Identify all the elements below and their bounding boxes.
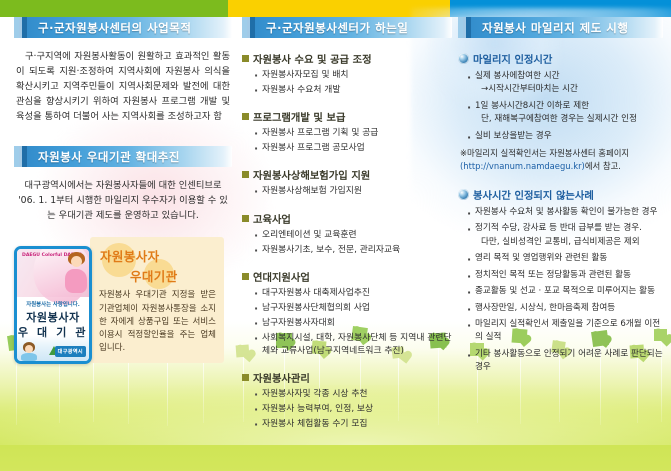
card-child-icon bbox=[21, 342, 37, 360]
square-bullet-icon bbox=[242, 55, 249, 62]
column-left: 구·군자원봉사센터의 사업목적 구·구지역에 자원봉사활동이 원활하고 효과적인… bbox=[14, 17, 232, 372]
section-header-preferred: 자원봉사 우대기관 확대추진 bbox=[14, 146, 232, 167]
preferred-body-text: 대구광역시에서는 자원봉사자들에 대한 인센티브로 '06. 1. 1부터 시행… bbox=[16, 178, 230, 223]
band-green-segment bbox=[0, 0, 228, 17]
mileage-item-list: 자원봉사 수요처 및 봉사활동 확인이 불가능한 경우정기적 수당, 강사료 등… bbox=[458, 206, 663, 374]
promo-block: 자원봉사자 우대기관 자원봉사 우대기관 지정을 받은 기관업체이 자원봉사통장… bbox=[14, 237, 232, 372]
activity-group-label: 고육사업 bbox=[253, 211, 291, 226]
mileage-group-list: 마일리지 인정시간실제 봉사에참여한 시간→시작시간부터마치는 시간1일 봉사시… bbox=[458, 51, 663, 375]
mileage-item-subtext: 단, 재해복구에참여한 경우는 실제시간 인정 bbox=[475, 113, 663, 126]
header-bars-icon bbox=[14, 17, 30, 38]
mileage-item: 정기적 수당, 강사료 등 반대 급부를 받는 경우.다만, 실비성격인 교통비… bbox=[466, 222, 663, 249]
promo-description-box: 자원봉사자 우대기관 자원봉사 우대기관 지정을 받은 기관업체이 자원봉사통장… bbox=[90, 237, 224, 363]
mileage-note-suffix: 에서 참고. bbox=[585, 161, 621, 171]
card-title-line1: 자원봉사자 bbox=[17, 309, 89, 325]
activity-item: 남구자원봉사단체협의회 사업 bbox=[253, 302, 452, 315]
mileage-item: 정치적인 목적 또는 정당활동과 관련된 활동 bbox=[466, 269, 663, 282]
activity-group-heading: 자원봉사관리 bbox=[242, 370, 452, 385]
activity-item-list: 오리엔테이션 및 교육훈련자원봉사기초, 보수, 전문, 관리자교육 bbox=[242, 229, 452, 257]
activity-item: 대구자원봉사 대축제사업추진 bbox=[253, 287, 452, 300]
activity-group-label: 자원봉사관리 bbox=[253, 370, 310, 385]
mileage-group: 마일리지 인정시간실제 봉사에참여한 시간→시작시간부터마치는 시간1일 봉사시… bbox=[458, 51, 663, 173]
activity-group-list: 자원봉사 수요 및 공급 조정자원봉사자모집 및 배치자원봉사 수요처 개발프로… bbox=[242, 51, 452, 431]
card-slogan: 자원봉사는 사랑입니다. bbox=[17, 300, 89, 308]
mileage-group-label: 봉사시간 인정되지 않는사례 bbox=[473, 187, 594, 202]
mileage-item: 마일리지 실적확인서 제출일을 기준으로 6개월 이전의 실적 bbox=[466, 318, 663, 345]
brochure-page: 구·군자원봉사센터의 사업목적 구·구지역에 자원봉사활동이 원활하고 효과적인… bbox=[0, 0, 671, 471]
mileage-item: 영리 목적 및 영업행위와 관련된 활동 bbox=[466, 252, 663, 265]
activity-item: 자원봉사 프로그램 공모사업 bbox=[253, 142, 452, 155]
mileage-item-subtext: →시작시간부터마치는 시간 bbox=[475, 83, 663, 96]
activity-group: 자원봉사 수요 및 공급 조정자원봉사자모집 및 배치자원봉사 수요처 개발 bbox=[242, 51, 452, 97]
activity-group: 프로그램개발 및 보급자원봉사 프로그램 기획 및 공급자원봉사 프로그램 공모… bbox=[242, 109, 452, 155]
card-person-body-icon bbox=[65, 269, 87, 293]
top-color-band bbox=[0, 0, 671, 17]
mileage-group-heading: 봉사시간 인정되지 않는사례 bbox=[458, 187, 663, 202]
header-bars-icon bbox=[458, 17, 474, 38]
mileage-item: 실비 보상을받는 경우 bbox=[466, 130, 663, 143]
activity-item: 자원봉사 프로그램 기획 및 공급 bbox=[253, 127, 452, 140]
square-bullet-icon bbox=[242, 215, 249, 222]
activity-group: 고육사업오리엔테이션 및 교육훈련자원봉사기초, 보수, 전문, 관리자교육 bbox=[242, 211, 452, 257]
square-bullet-icon bbox=[242, 171, 249, 178]
mileage-item: 기타 봉사활동으로 인정되기 어려운 사례로 판단되는 경우 bbox=[466, 348, 663, 375]
promo-headline-line2: 우대기관 bbox=[130, 266, 178, 285]
mileage-item-text: 종교활동 및 선교 · 포교 목적으로 미루어지는 활동 bbox=[475, 286, 655, 296]
column-right: 자원봉사 마일리지 제도 시행 마일리지 인정시간실제 봉사에참여한 시간→시작… bbox=[458, 17, 663, 375]
square-bullet-icon bbox=[242, 113, 249, 120]
three-column-body: 구·군자원봉사센터의 사업목적 구·구지역에 자원봉사활동이 원활하고 효과적인… bbox=[0, 17, 671, 471]
activity-group: 자원봉사상해보험가입 지원자원봉사상해보험 가입지원 bbox=[242, 167, 452, 198]
section-title-preferred: 자원봉사 우대기관 확대추진 bbox=[30, 149, 180, 165]
mileage-item-text: 행사장만일, 시상식, 한마음축제 참여등 bbox=[475, 303, 615, 313]
mileage-item-text: 정기적 수당, 강사료 등 반대 급부를 받는 경우. bbox=[475, 223, 642, 233]
section-header-purpose: 구·군자원봉사센터의 사업목적 bbox=[14, 17, 232, 38]
promo-headline-line1: 자원봉사자 bbox=[100, 246, 160, 265]
activity-group-label: 자원봉사 수요 및 공급 조정 bbox=[253, 51, 372, 66]
activity-group: 연대지원사업대구자원봉사 대축제사업추진남구자원봉사단체협의회 사업남구자원봉사… bbox=[242, 269, 452, 358]
activity-item-list: 대구자원봉사 대축제사업추진남구자원봉사단체협의회 사업남구자원봉사자대회사회복… bbox=[242, 287, 452, 358]
promo-description-text: 자원봉사 우대기관 지정을 받은 기관업체이 자원봉사통장을 소지한 자에게 상… bbox=[99, 289, 216, 355]
mileage-item-list: 실제 봉사에참여한 시간→시작시간부터마치는 시간1일 봉사시간8시간 이하로 … bbox=[458, 70, 663, 143]
activity-group-heading: 자원봉사상해보험가입 지원 bbox=[242, 167, 452, 182]
mileage-item: 실제 봉사에참여한 시간→시작시간부터마치는 시간 bbox=[466, 70, 663, 97]
mileage-note: ※마일리지 실적확인서는 자원봉사센터 홈페이지 (http://vnanum.… bbox=[458, 147, 663, 173]
mileage-item-subtext: 다만, 실비성격인 교통비, 급식비제공은 제외 bbox=[475, 236, 663, 249]
mileage-item-text: 정치적인 목적 또는 정당활동과 관련된 활동 bbox=[475, 270, 631, 280]
section-title-purpose: 구·군자원봉사센터의 사업목적 bbox=[30, 20, 191, 36]
mileage-group: 봉사시간 인정되지 않는사례자원봉사 수요처 및 봉사활동 확인이 불가능한 경… bbox=[458, 187, 663, 374]
activity-item-list: 자원봉사자모집 및 배치자원봉사 수요처 개발 bbox=[242, 69, 452, 97]
section-title-mileage: 자원봉사 마일리지 제도 시행 bbox=[474, 20, 628, 36]
blue-dot-icon bbox=[458, 53, 469, 64]
activity-group-label: 자원봉사상해보험가입 지원 bbox=[253, 167, 370, 182]
card-footer-gradient: 대구광역시 bbox=[17, 335, 89, 361]
blue-dot-icon bbox=[458, 189, 469, 200]
activity-item: 자원봉사기초, 보수, 전문, 관리자교육 bbox=[253, 244, 452, 257]
activity-group-label: 프로그램개발 및 보급 bbox=[253, 109, 345, 124]
square-bullet-icon bbox=[242, 273, 249, 280]
mileage-item: 행사장만일, 시상식, 한마음축제 참여등 bbox=[466, 302, 663, 315]
activity-item: 자원봉사 능력부여, 인정, 보상 bbox=[253, 403, 452, 416]
activity-item: 자원봉사자모집 및 배치 bbox=[253, 69, 452, 82]
band-blue-segment bbox=[450, 0, 671, 17]
square-bullet-icon bbox=[242, 374, 249, 381]
card-top-gradient: DAEGU Colorful DAEGU bbox=[17, 249, 89, 297]
mileage-item: 종교활동 및 선교 · 포교 목적으로 미루어지는 활동 bbox=[466, 285, 663, 298]
mileage-item: 자원봉사 수요처 및 봉사활동 확인이 불가능한 경우 bbox=[466, 206, 663, 219]
activity-group-heading: 고육사업 bbox=[242, 211, 452, 226]
activity-item: 남구자원봉사자대회 bbox=[253, 317, 452, 330]
card-issuer-badge: 대구광역시 bbox=[55, 346, 86, 357]
activity-item: 오리엔테이션 및 교육훈련 bbox=[253, 229, 452, 242]
activity-item-list: 자원봉사 프로그램 기획 및 공급자원봉사 프로그램 공모사업 bbox=[242, 127, 452, 155]
activity-item: 사회복지시설, 대학, 자원봉사단체 등 지역내 관련단체와 교류사업(남구지역… bbox=[253, 332, 452, 359]
activity-item-list: 자원봉사상해보험 가입지원 bbox=[242, 185, 452, 198]
mileage-item-text: 실제 봉사에참여한 시간 bbox=[475, 71, 560, 81]
mileage-item: 1일 봉사시간8시간 이하로 제한단, 재해복구에참여한 경우는 실제시간 인정 bbox=[466, 100, 663, 127]
mileage-item-text: 기타 봉사활동으로 인정되기 어려운 사례로 판단되는 경우 bbox=[475, 349, 663, 372]
activity-group-heading: 자원봉사 수요 및 공급 조정 bbox=[242, 51, 452, 66]
section-header-mileage: 자원봉사 마일리지 제도 시행 bbox=[458, 17, 663, 38]
header-bars-icon bbox=[242, 17, 258, 38]
header-bars-icon bbox=[14, 146, 30, 167]
mileage-item-text: 실비 보상을받는 경우 bbox=[475, 131, 552, 141]
section-title-activities: 구·군자원봉사센터가 하는일 bbox=[258, 20, 408, 36]
band-yellow-segment bbox=[228, 0, 450, 17]
activity-item: 자원봉사자및 각종 시상 추천 bbox=[253, 388, 452, 401]
volunteer-card-image: DAEGU Colorful DAEGU 자원봉사는 사랑입니다. 자원봉사자 … bbox=[14, 246, 92, 364]
activity-item: 자원봉사 수요처 개발 bbox=[253, 84, 452, 97]
mileage-note-url[interactable]: (http://vnanum.namdaegu.kr) bbox=[460, 161, 585, 171]
activity-item-list: 자원봉사자및 각종 시상 추천자원봉사 능력부여, 인정, 보상자원봉사 체험활… bbox=[242, 388, 452, 431]
mileage-group-heading: 마일리지 인정시간 bbox=[458, 51, 663, 66]
mileage-group-label: 마일리지 인정시간 bbox=[473, 51, 552, 66]
purpose-body-text: 구·구지역에 자원봉사활동이 원활하고 효과적인 활동이 되도록 지원·조정하여… bbox=[16, 49, 230, 124]
mileage-item-text: 자원봉사 수요처 및 봉사활동 확인이 불가능한 경우 bbox=[475, 207, 657, 217]
mileage-item-text: 영리 목적 및 영업행위와 관련된 활동 bbox=[475, 253, 607, 263]
mileage-note-prefix: ※마일리지 실적확인서는 자원봉사센터 홈페이지 bbox=[460, 148, 629, 158]
activity-item: 자원봉사 체험활동 수기 모집 bbox=[253, 418, 452, 431]
mileage-item-text: 1일 봉사시간8시간 이하로 제한 bbox=[475, 101, 589, 111]
activity-item: 자원봉사상해보험 가입지원 bbox=[253, 185, 452, 198]
column-middle: 구·군자원봉사센터가 하는일 자원봉사 수요 및 공급 조정자원봉사자모집 및 … bbox=[242, 17, 452, 431]
activity-group-heading: 연대지원사업 bbox=[242, 269, 452, 284]
activity-group-label: 연대지원사업 bbox=[253, 269, 310, 284]
mileage-item-text: 마일리지 실적확인서 제출일을 기준으로 6개월 이전의 실적 bbox=[475, 319, 660, 342]
activity-group-heading: 프로그램개발 및 보급 bbox=[242, 109, 452, 124]
activity-group: 자원봉사관리자원봉사자및 각종 시상 추천자원봉사 능력부여, 인정, 보상자원… bbox=[242, 370, 452, 431]
section-header-activities: 구·군자원봉사센터가 하는일 bbox=[242, 17, 452, 38]
